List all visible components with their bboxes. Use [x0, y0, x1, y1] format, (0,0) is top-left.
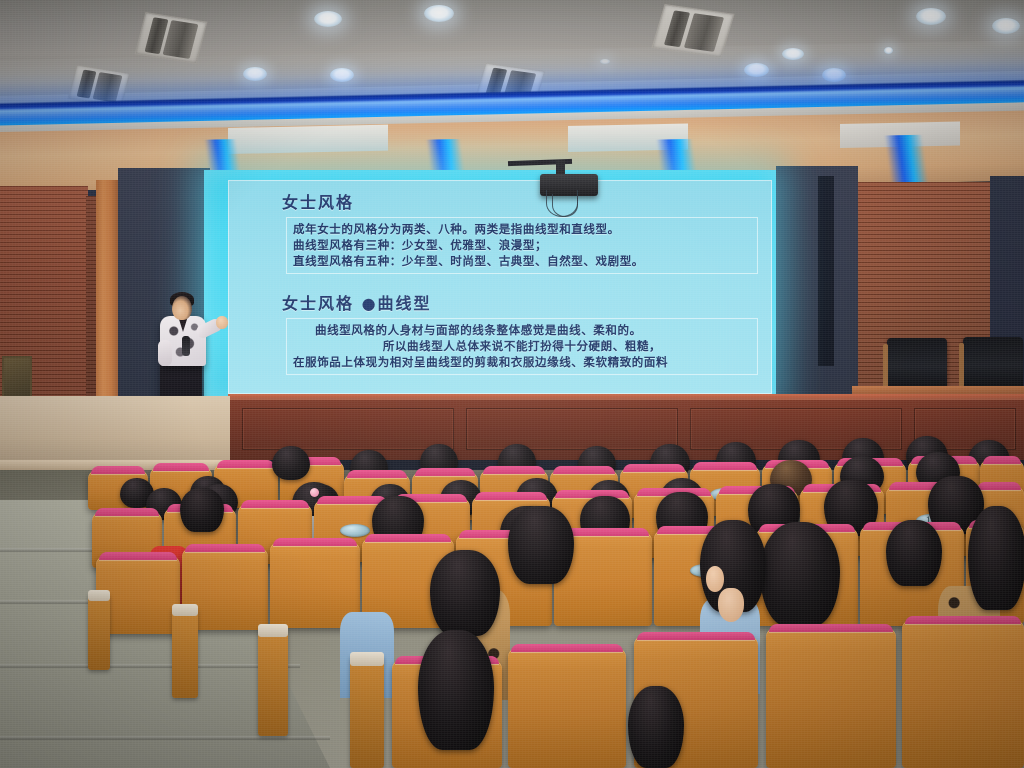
audience-head — [180, 488, 224, 532]
seat-armrest — [172, 606, 198, 698]
seat[interactable] — [508, 648, 626, 768]
ceiling-light-icon — [992, 18, 1020, 34]
ac-grille-icon — [651, 4, 734, 58]
ceiling-light-icon — [600, 59, 610, 64]
wall-soffit-panel — [568, 123, 688, 152]
wall-soffit-panel — [840, 121, 960, 148]
seat[interactable] — [902, 620, 1024, 768]
podium-wall — [228, 398, 1024, 460]
audience-head — [968, 506, 1024, 610]
presentation-slide: 女士风格 成年女士的风格分为两类、八种。两类是指曲线型和直线型。 曲线型风格有三… — [228, 180, 772, 394]
wall-soffit-panel — [228, 125, 388, 154]
slide-heading-2: 女士风格 ●曲线型 — [282, 290, 772, 314]
microphone-icon — [182, 336, 190, 356]
seat-armrest — [88, 592, 110, 670]
slide-heading-1: 女士风格 — [282, 189, 772, 213]
stage-chair[interactable] — [887, 338, 947, 390]
seat[interactable] — [766, 628, 896, 768]
audience-hand — [718, 588, 744, 622]
audience-head — [628, 686, 684, 768]
ceiling-light-icon — [744, 63, 769, 77]
seat-armrest — [350, 654, 384, 768]
seat-armrest-pad — [88, 590, 110, 601]
stage-floor — [0, 396, 230, 466]
seat-armrest — [258, 626, 288, 736]
audience-head — [886, 520, 942, 586]
lecture-hall-photo: 女士风格 成年女士的风格分为两类、八种。两类是指曲线型和直线型。 曲线型风格有三… — [0, 0, 1024, 768]
audience-head — [418, 630, 494, 750]
seat-armrest-pad — [258, 624, 288, 637]
ceiling-light-icon — [782, 48, 804, 60]
slide-line: 曲线型风格的人身材与面部的线条整体感觉是曲线、柔和的。 — [293, 322, 751, 338]
ceiling-light-icon — [424, 5, 454, 22]
stage-chair[interactable] — [963, 337, 1023, 389]
audience-head — [430, 550, 500, 636]
ceiling-light-icon — [243, 67, 267, 81]
slide-line: 直线型风格有五种：少年型、时尚型、古典型、自然型、戏剧型。 — [293, 253, 751, 269]
seat-armrest-pad — [350, 652, 384, 666]
presenter-head — [172, 296, 192, 320]
seat-armrest-pad — [172, 604, 198, 616]
step-riser — [0, 664, 300, 668]
backdrop-panel-right — [776, 166, 858, 410]
hair-clip-icon — [310, 488, 319, 497]
slide-line: 曲线型风格有三种：少女型、优雅型、浪漫型； — [293, 237, 751, 253]
ceiling-light-icon — [916, 8, 946, 25]
podium-panel — [242, 408, 454, 450]
backdrop-column-right — [818, 176, 834, 366]
ceiling-light-icon — [314, 11, 342, 27]
presenter-arm-left — [158, 340, 172, 366]
presenter-hand — [216, 316, 228, 329]
slide-textbox-2: 曲线型风格的人身材与面部的线条整体感觉是曲线、柔和的。 所以曲线型人总体来说不能… — [286, 318, 758, 375]
podium-panel — [466, 408, 678, 450]
audience-face — [706, 566, 724, 592]
slide-textbox-1: 成年女士的风格分为两类、八种。两类是指曲线型和直线型。 曲线型风格有三种：少女型… — [286, 217, 758, 274]
projector-cable — [552, 194, 578, 217]
seat-number-plate — [340, 524, 370, 537]
wall-pillar-left — [96, 180, 120, 404]
audience-head — [272, 446, 310, 480]
slide-line: 成年女士的风格分为两类、八种。两类是指曲线型和直线型。 — [293, 221, 751, 237]
audience-head — [760, 522, 840, 626]
step-riser — [0, 736, 330, 740]
ceiling-light-icon — [330, 68, 354, 82]
audience-head — [508, 506, 574, 584]
slide-line: 所以曲线型人总体来说不能打扮得十分硬朗、粗糙， — [293, 338, 751, 354]
ceiling-light-icon — [822, 68, 846, 82]
slide-line: 在服饰品上体现为相对呈曲线型的剪裁和衣服边缘线、柔软精致的面料 — [293, 354, 751, 370]
ceiling-light-icon — [884, 47, 893, 54]
